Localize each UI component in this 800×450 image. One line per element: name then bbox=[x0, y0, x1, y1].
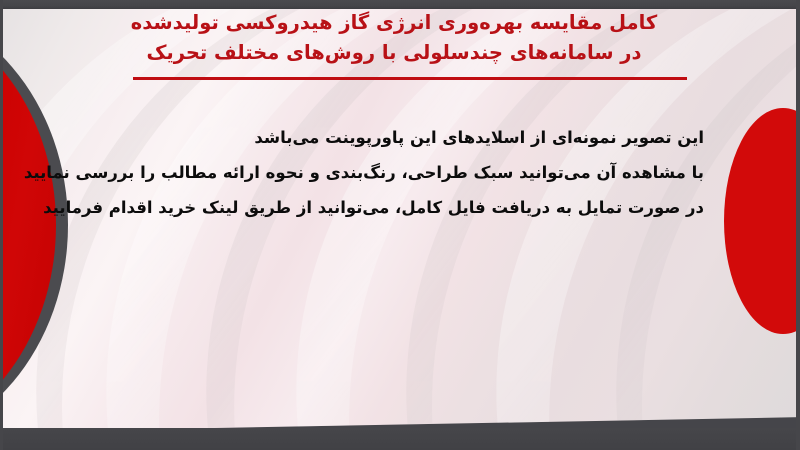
title-line-2: در سامانه‌های چندسلولی با روش‌های مختلف … bbox=[74, 38, 714, 68]
presentation-slide: کامل مقایسه بهره‌وری انرژی گاز هیدروکسی … bbox=[0, 0, 800, 450]
title-line-1: کامل مقایسه بهره‌وری انرژی گاز هیدروکسی … bbox=[74, 8, 714, 38]
body-line-3: در صورت تمایل به دریافت فایل کامل، می‌تو… bbox=[56, 190, 704, 225]
slide-frame-left bbox=[0, 0, 3, 450]
body-line-2: با مشاهده آن می‌توانید سبک طراحی، رنگ‌بن… bbox=[56, 155, 704, 190]
slide-body: این تصویر نمونه‌ای از اسلایدهای این پاور… bbox=[56, 120, 704, 225]
slide-title: کامل مقایسه بهره‌وری انرژی گاز هیدروکسی … bbox=[74, 8, 714, 68]
slide-frame-right bbox=[796, 0, 800, 450]
body-line-1: این تصویر نمونه‌ای از اسلایدهای این پاور… bbox=[56, 120, 704, 155]
title-underline-rule bbox=[133, 77, 687, 80]
slide-frame-bottom bbox=[0, 428, 800, 450]
slide-frame-top bbox=[0, 0, 800, 9]
